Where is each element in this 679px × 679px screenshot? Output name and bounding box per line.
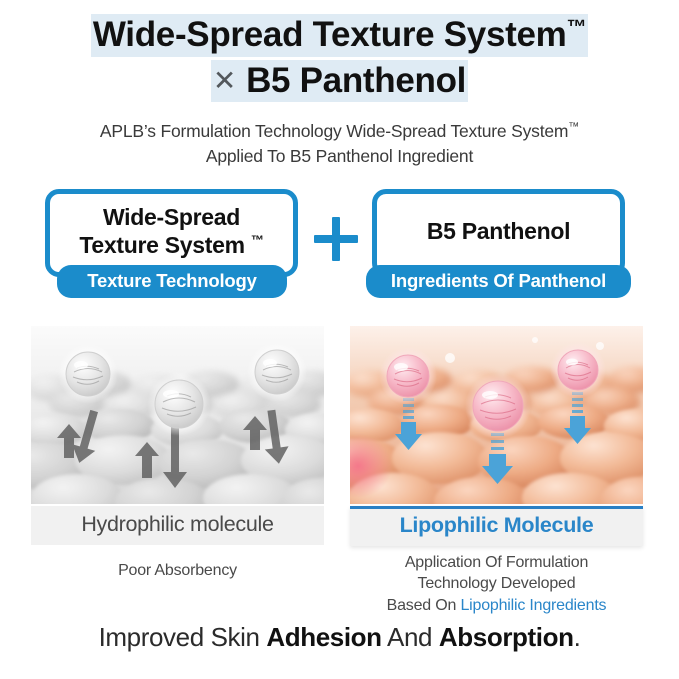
plus-icon (310, 213, 362, 265)
trademark-icon: ™ (566, 16, 586, 38)
hydrophilic-caption: Hydrophilic molecule (31, 506, 324, 545)
lipophilic-subcaption-line-2: Technology Developed (346, 573, 647, 594)
lipophilic-subcaption: Application Of Formulation Technology De… (346, 552, 647, 616)
lipophilic-ingredients-highlight: Lipophilic Ingredients (460, 597, 606, 614)
hydrophilic-illustration (31, 326, 324, 504)
subtitle: APLB’s Formulation Technology Wide-Sprea… (0, 119, 679, 169)
subtitle-line-2: Applied To B5 Panthenol Ingredient (0, 144, 679, 169)
technology-equation-row: Wide-Spread Texture System ™ Texture Tec… (0, 189, 679, 314)
lipophilic-subcaption-line-1: Application Of Formulation (346, 552, 647, 573)
cross-icon: ✕ (213, 65, 246, 96)
title-line-2-text: ✕B5 Panthenol (211, 60, 468, 103)
title-line-1: Wide-Spread Texture System™ (0, 14, 679, 57)
lipophilic-illustration-svg (350, 326, 643, 504)
lipophilic-subcaption-line-3: Based On Lipophilic Ingredients (346, 595, 647, 616)
footer-bold-adhesion: Adhesion (266, 622, 381, 652)
hydrophilic-illustration-svg (31, 326, 324, 504)
hydrophilic-subcaption: Poor Absorbency (31, 560, 324, 581)
page-title: Wide-Spread Texture System™ ✕B5 Pantheno… (0, 0, 679, 102)
b5-panthenol-box-text: B5 Panthenol (427, 217, 570, 249)
title-line-2: ✕B5 Panthenol (0, 60, 679, 103)
footer-part-3: . (574, 622, 581, 652)
lipophilic-caption: Lipophilic Molecule (350, 506, 643, 546)
footer-claim: Improved Skin Adhesion And Absorption. (0, 622, 679, 653)
lipophilic-illustration (350, 326, 643, 504)
trademark-icon: ™ (568, 122, 579, 134)
plus-icon-vertical-bar (332, 217, 340, 261)
footer-part-2: And (382, 622, 439, 652)
trademark-icon: ™ (251, 232, 264, 247)
footer-part-1: Improved Skin (99, 622, 267, 652)
ingredients-of-panthenol-pill: Ingredients Of Panthenol (366, 265, 631, 298)
footer-bold-absorption: Absorption (439, 622, 574, 652)
subtitle-line-1: APLB’s Formulation Technology Wide-Sprea… (0, 119, 679, 144)
comparison-panels: Hydrophilic molecule Lipophilic Molecule… (0, 326, 679, 548)
texture-system-box: Wide-Spread Texture System ™ (45, 189, 298, 277)
texture-technology-pill: Texture Technology (57, 265, 287, 298)
b5-panthenol-box: B5 Panthenol (372, 189, 625, 277)
title-line-1-text: Wide-Spread Texture System™ (91, 14, 588, 57)
texture-system-box-text: Wide-Spread Texture System ™ (79, 203, 263, 263)
